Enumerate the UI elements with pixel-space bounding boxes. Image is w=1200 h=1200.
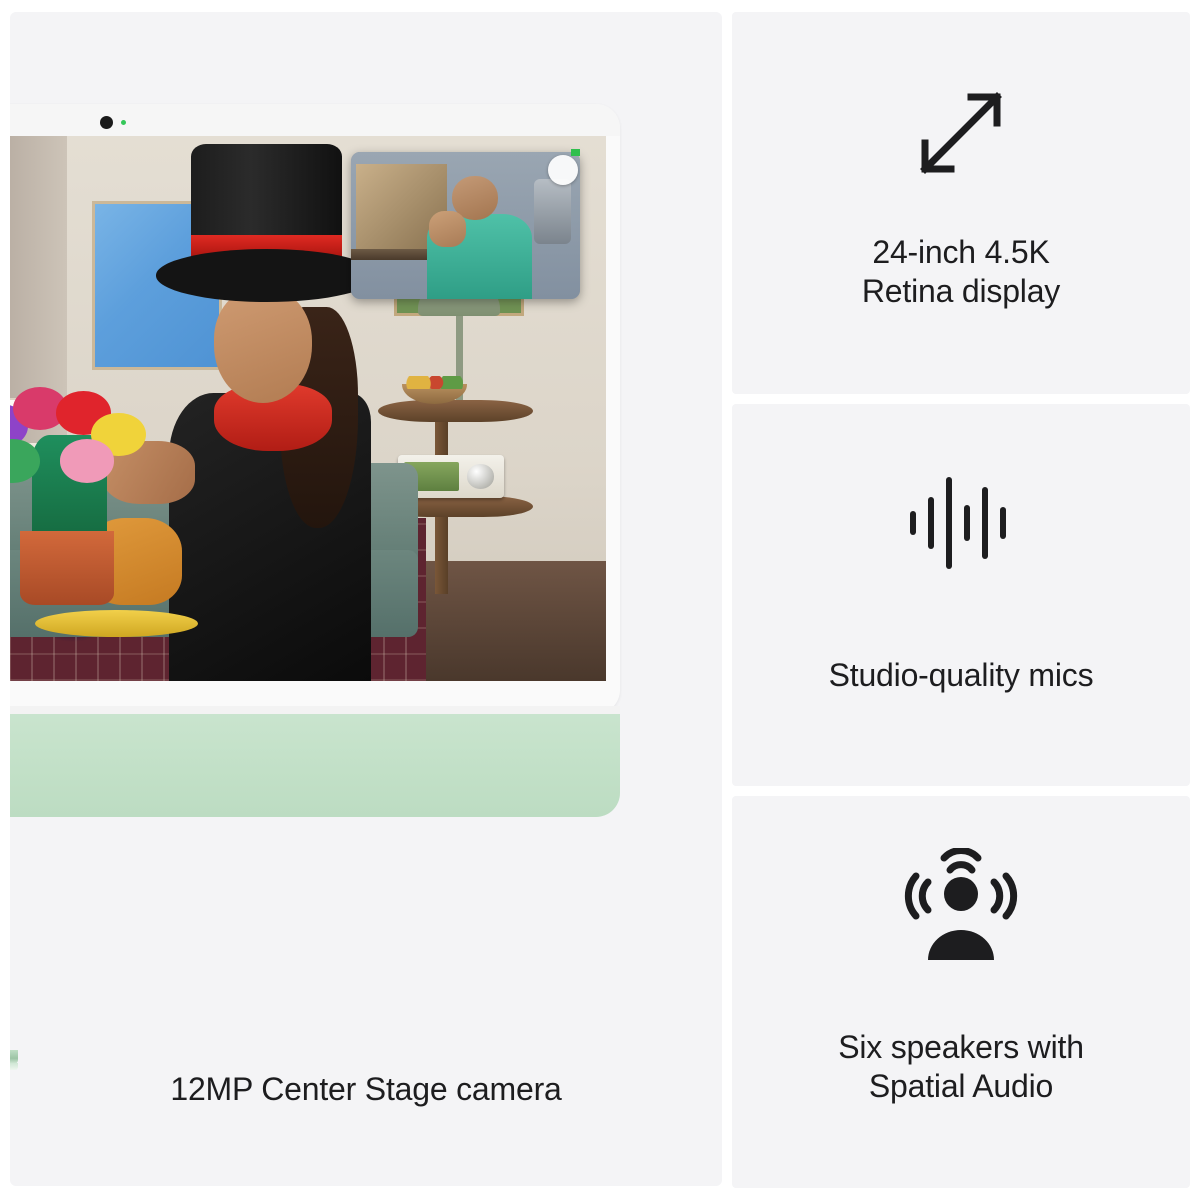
facetime-camera-icon [100,116,113,129]
flower-pot [20,531,114,605]
imac-chin [10,713,620,817]
facetime-scene [10,136,606,681]
scene-paper-flowers [10,387,165,605]
panel-display-label: 24-inch 4.5K Retina display [862,233,1060,311]
panel-display: 24-inch 4.5K Retina display [732,12,1190,394]
screen-recording-indicator-icon [571,149,580,156]
child-top-hat-brim [156,249,378,302]
camera-caption: 12MP Center Stage camera [10,1071,722,1108]
child-face [214,288,312,403]
spatial-audio-person-icon [896,848,1026,968]
flower [60,439,115,483]
panel-speakers: Six speakers with Spatial Audio [732,796,1190,1188]
panel-mics: Studio-quality mics [732,404,1190,786]
diagonal-resize-arrows-icon [901,73,1021,193]
imac-display-housing [10,104,620,714]
pip-speaker [534,179,571,244]
facetime-control-button[interactable] [548,155,578,185]
audio-waveform-icon [901,468,1021,578]
imac-screen [10,136,606,681]
imac-stand-foot [10,1050,18,1064]
imac-product-image [10,104,620,817]
panel-mics-label: Studio-quality mics [829,656,1094,695]
panel-camera: 12MP Center Stage camera [10,12,722,1186]
picture-in-picture-window[interactable] [351,152,579,299]
pip-person-hand [429,211,466,246]
camera-indicator-led-icon [121,120,126,125]
product-feature-grid: 12MP Center Stage camera 24-inch 4.5K Re… [0,0,1200,1200]
panel-speakers-label: Six speakers with Spatial Audio [838,1028,1084,1106]
